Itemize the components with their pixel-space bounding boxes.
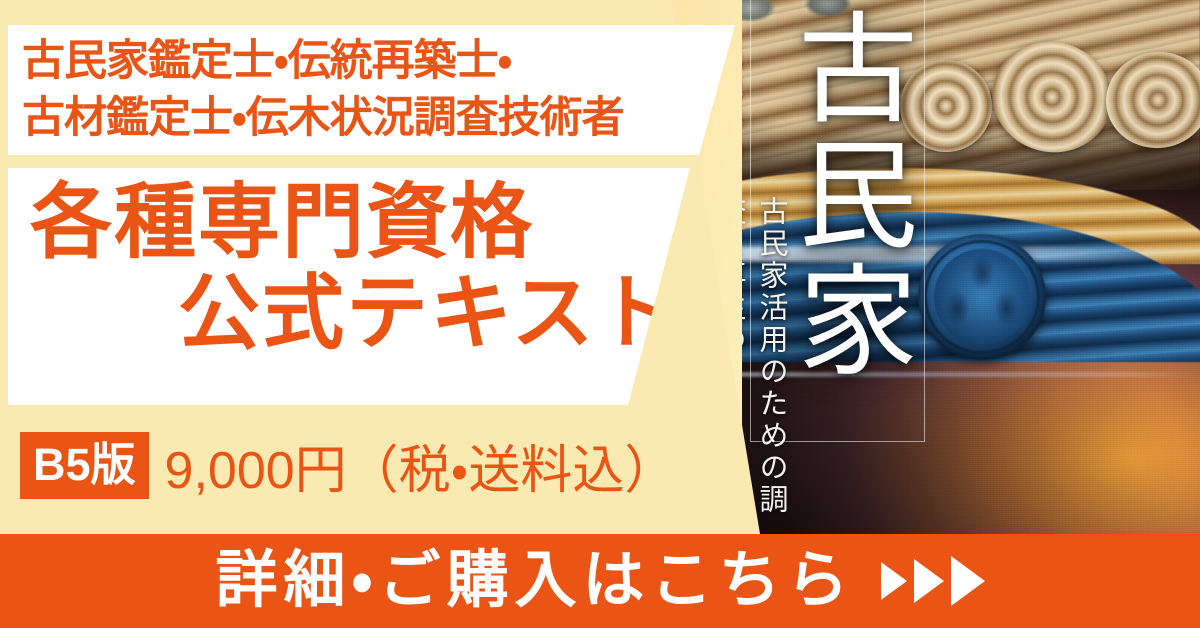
headline-line-2: 公式テキスト xyxy=(8,271,690,356)
credentials-card: 古民家鑑定士・伝統再築士・ 古材鑑定士・伝木状況調査技術者 xyxy=(8,25,735,155)
credentials-line-1: 古民家鑑定士・伝統再築士・ xyxy=(22,33,735,90)
cta-label: 詳細・ご購入はこちら xyxy=(215,550,854,612)
cta-arrow-group xyxy=(881,556,985,606)
headline-card: 各種専門資格 公式テキスト xyxy=(8,168,690,405)
format-badge: B5版 xyxy=(20,432,149,499)
credentials-line-2: 古材鑑定士・伝木状況調査技術者 xyxy=(22,90,735,147)
price-row: B5版 9,000円（税・送料込） xyxy=(20,428,676,503)
arrow-right-medium-icon xyxy=(914,559,944,603)
arrow-right-small-icon xyxy=(881,562,907,600)
cta-bar[interactable]: 詳細・ご購入はこちら xyxy=(0,534,1200,628)
price-amount: 9,000円（税・送料込） xyxy=(165,428,677,503)
arrow-right-large-icon xyxy=(951,556,985,606)
promo-banner: 古民家 伝統構法 古民家活用のための調査と再生の 古民家鑑定士・伝統再築士・ 古… xyxy=(0,0,1200,628)
headline-line-1: 各種専門資格 xyxy=(8,180,690,265)
